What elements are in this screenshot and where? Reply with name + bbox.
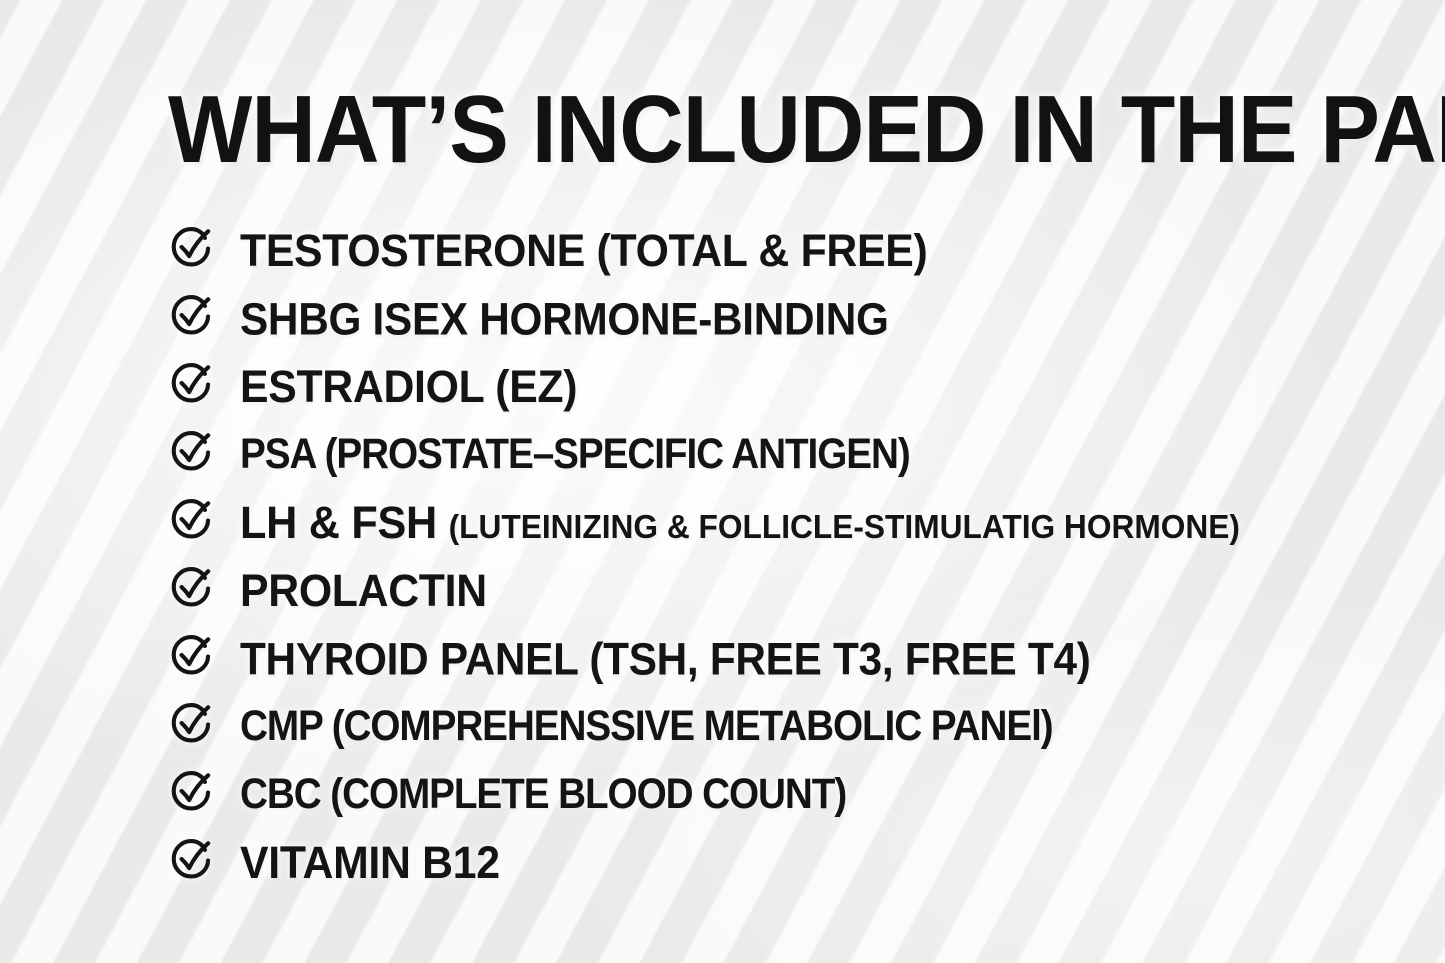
list-item-label: TESTOSTERONE (TOTAL & FREE) — [240, 228, 927, 273]
circled-checkmark-icon — [168, 565, 214, 611]
circled-checkmark-icon — [168, 497, 214, 543]
circled-checkmark-icon — [168, 429, 214, 475]
list-item: CMP (COMPREHENSSIVE METABOLIC PANEl) — [168, 692, 1358, 760]
list-item-label: THYROID PANEL (TSH, FREE T3, FREE T4) — [240, 636, 1091, 681]
list-item-label: PROLACTIN — [240, 568, 487, 613]
list-item: SHBG ISEX HORMONE-BINDING — [168, 284, 1358, 352]
list-item: THYROID PANEL (TSH, FREE T3, FREE T4) — [168, 624, 1358, 692]
circled-checkmark-icon — [168, 225, 214, 271]
poster-content: WHAT’S INCLUDED IN THE PANEL TESTOSTERON… — [0, 0, 1445, 963]
list-item: ESTRADIOL (EZ) — [168, 352, 1358, 420]
circled-checkmark-icon — [168, 361, 214, 407]
circled-checkmark-icon — [168, 633, 214, 679]
page-title: WHAT’S INCLUDED IN THE PANEL — [168, 86, 1219, 174]
list-item-label: SHBG ISEX HORMONE-BINDING — [240, 296, 889, 341]
list-item-label: ESTRADIOL (EZ) — [240, 364, 577, 409]
list-item-label: CMP (COMPREHENSSIVE METABOLIC PANEl) — [240, 705, 1053, 748]
circled-checkmark-icon — [168, 293, 214, 339]
list-item: TESTOSTERONE (TOTAL & FREE) — [168, 216, 1358, 284]
list-item-label-main: LH & FSH — [240, 497, 449, 548]
list-item-label-sub: (LUTEINIZING & FOLLICLE-STIMULATIG HORMO… — [449, 508, 1240, 545]
panel-poster: WHAT’S INCLUDED IN THE PANEL TESTOSTERON… — [0, 0, 1445, 963]
list-item: PSA (PROSTATE–SPECIFIC ANTIGEN) — [168, 420, 1358, 488]
circled-checkmark-icon — [168, 769, 214, 815]
list-item: CBC (COMPLETE BLOOD COUNT) — [168, 760, 1358, 828]
circled-checkmark-icon — [168, 701, 214, 747]
list-item-label: VITAMIN B12 — [240, 840, 500, 885]
list-item: PROLACTIN — [168, 556, 1358, 624]
included-checklist: TESTOSTERONE (TOTAL & FREE) SHBG ISEX HO… — [168, 216, 1358, 896]
list-item-label: LH & FSH (LUTEINIZING & FOLLICLE-STIMULA… — [240, 500, 1240, 545]
list-item-label: PSA (PROSTATE–SPECIFIC ANTIGEN) — [240, 433, 910, 476]
list-item: LH & FSH (LUTEINIZING & FOLLICLE-STIMULA… — [168, 488, 1358, 556]
list-item: VITAMIN B12 — [168, 828, 1358, 896]
list-item-label: CBC (COMPLETE BLOOD COUNT) — [240, 773, 846, 816]
circled-checkmark-icon — [168, 837, 214, 883]
